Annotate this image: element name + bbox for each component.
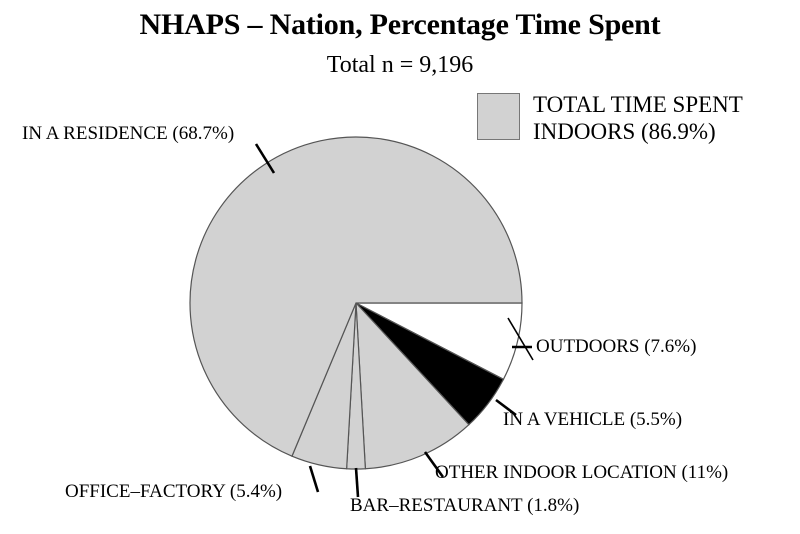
leader-line-bar-restaurant — [356, 468, 358, 497]
slice-label-vehicle: IN A VEHICLE (5.5%) — [503, 409, 682, 431]
leader-line-office-factory — [310, 466, 318, 492]
pie-slices — [190, 137, 522, 469]
pie-chart-figure: NHAPS – Nation, Percentage Time Spent To… — [0, 0, 800, 534]
slice-label-office-factory: OFFICE–FACTORY (5.4%) — [65, 481, 282, 503]
pie-graphic — [0, 0, 800, 534]
slice-label-residence: IN A RESIDENCE (68.7%) — [22, 123, 234, 145]
slice-label-outdoors: OUTDOORS (7.6%) — [536, 336, 696, 358]
slice-label-bar-restaurant: BAR–RESTAURANT (1.8%) — [350, 495, 579, 517]
slice-label-other-indoor: OTHER INDOOR LOCATION (11%) — [435, 462, 728, 484]
